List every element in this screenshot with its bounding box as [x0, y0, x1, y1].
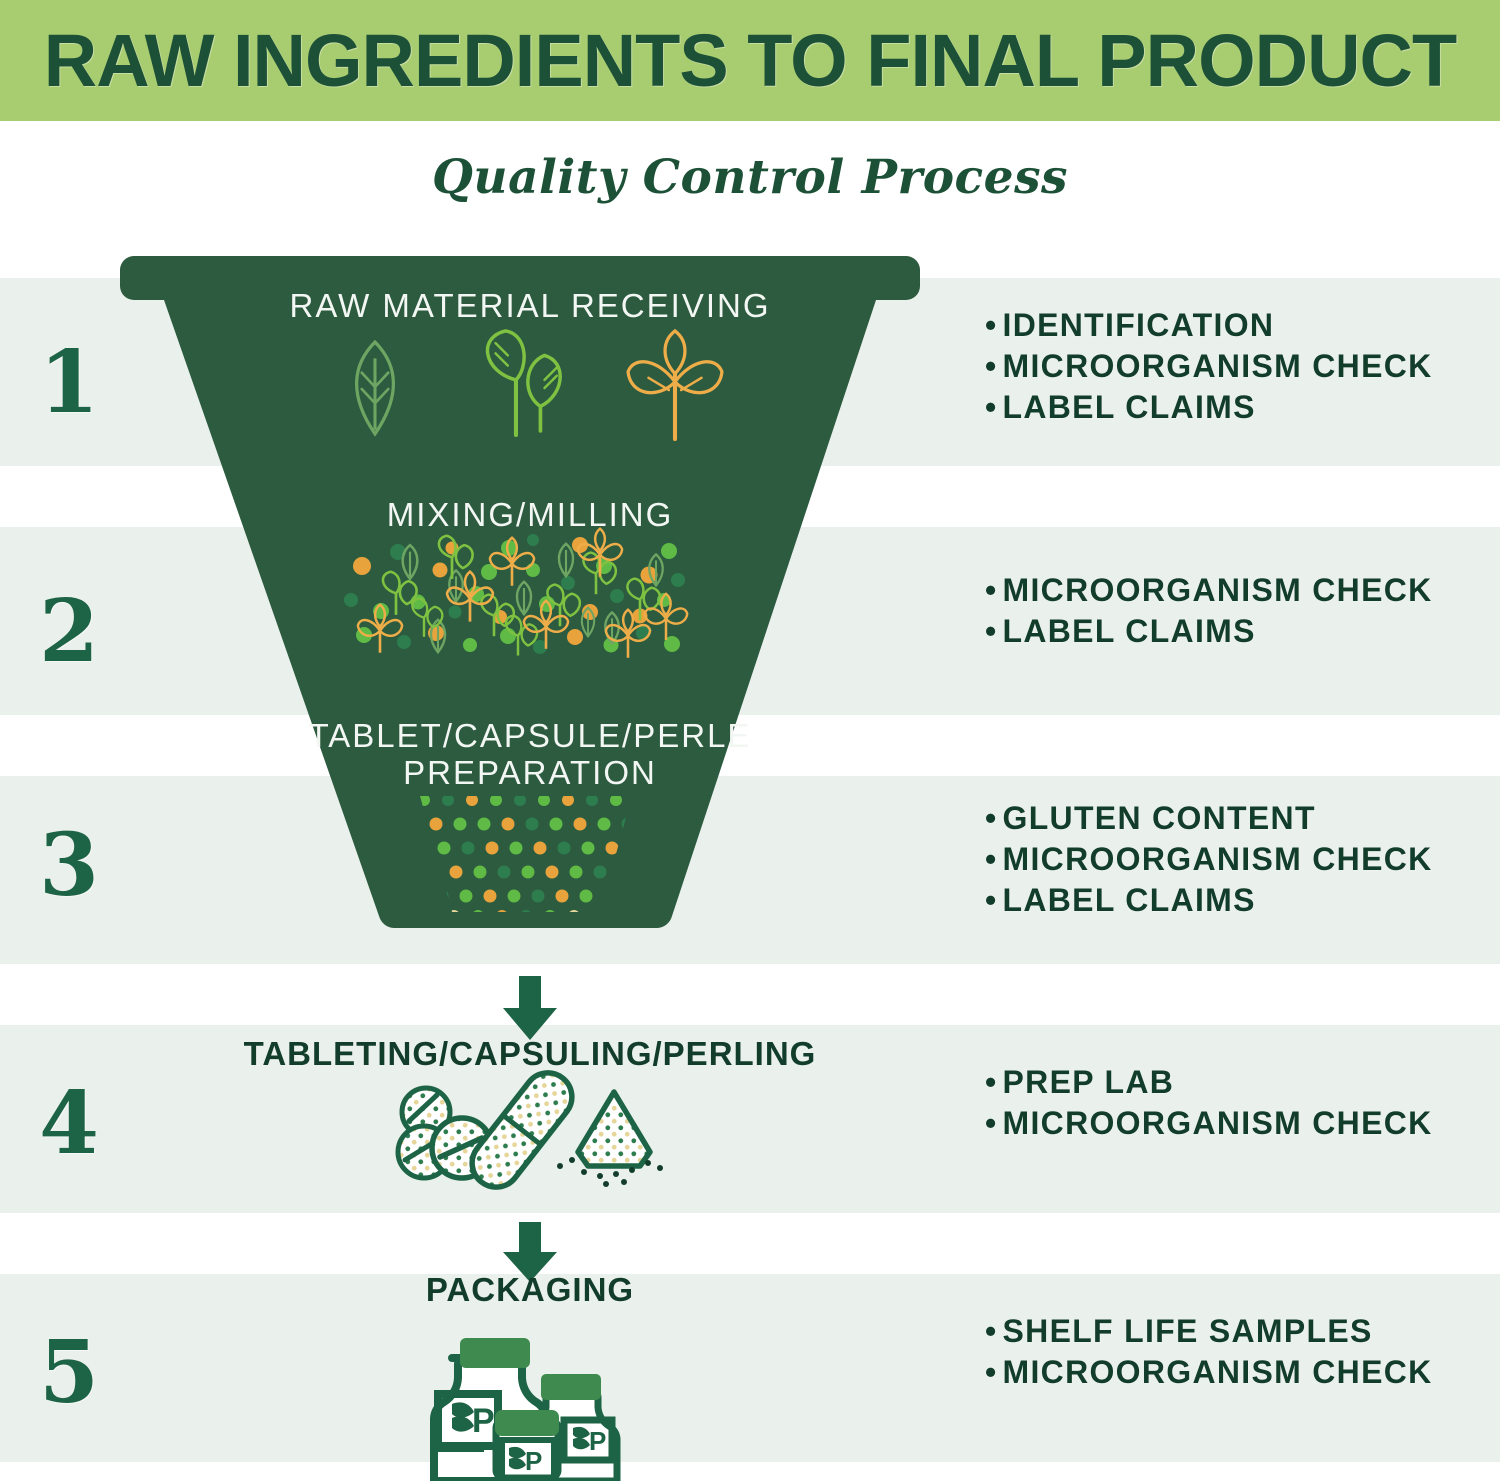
check-item: LABEL CLAIMS: [985, 611, 1433, 652]
checks-list-5: SHELF LIFE SAMPLES MICROORGANISM CHECK: [985, 1311, 1433, 1393]
check-item: LABEL CLAIMS: [985, 387, 1433, 428]
check-item: MICROORGANISM CHECK: [985, 1352, 1433, 1393]
check-item: MICROORGANISM CHECK: [985, 570, 1433, 611]
checks-list-1: IDENTIFICATION MICROORGANISM CHECK LABEL…: [985, 305, 1433, 428]
check-item: SHELF LIFE SAMPLES: [985, 1311, 1433, 1352]
checks-list-4: PREP LAB MICROORGANISM CHECK: [985, 1062, 1433, 1144]
stage-label-2: MIXING/MILLING: [250, 497, 810, 534]
step-number-4: 4: [14, 1081, 124, 1167]
checks-list-3: GLUTEN CONTENT MICROORGANISM CHECK LABEL…: [985, 798, 1433, 921]
stage-label-4: TABLETING/CAPSULING/PERLING: [180, 1036, 880, 1073]
step-number-5: 5: [14, 1330, 124, 1416]
check-item: GLUTEN CONTENT: [985, 798, 1433, 839]
step-number-2: 2: [14, 589, 124, 675]
check-item: MICROORGANISM CHECK: [985, 1103, 1433, 1144]
header-band: RAW INGREDIENTS TO FINAL PRODUCT: [0, 0, 1500, 121]
page-title: RAW INGREDIENTS TO FINAL PRODUCT: [44, 24, 1456, 98]
check-item: MICROORGANISM CHECK: [985, 346, 1433, 387]
stage-label-5: PACKAGING: [330, 1272, 730, 1309]
stage-label-1: RAW MATERIAL RECEIVING: [250, 288, 810, 325]
check-item: IDENTIFICATION: [985, 305, 1433, 346]
check-item: MICROORGANISM CHECK: [985, 839, 1433, 880]
check-item: PREP LAB: [985, 1062, 1433, 1103]
step-number-1: 1: [14, 340, 124, 426]
checks-list-2: MICROORGANISM CHECK LABEL CLAIMS: [985, 570, 1433, 652]
step-number-3: 3: [14, 823, 124, 909]
infographic-root: RAW INGREDIENTS TO FINAL PRODUCT Quality…: [0, 0, 1500, 1481]
page-subtitle: Quality Control Process: [0, 150, 1500, 205]
stage-label-3: TABLET/CAPSULE/PERLE PREPARATION: [230, 718, 830, 792]
check-item: LABEL CLAIMS: [985, 880, 1433, 921]
